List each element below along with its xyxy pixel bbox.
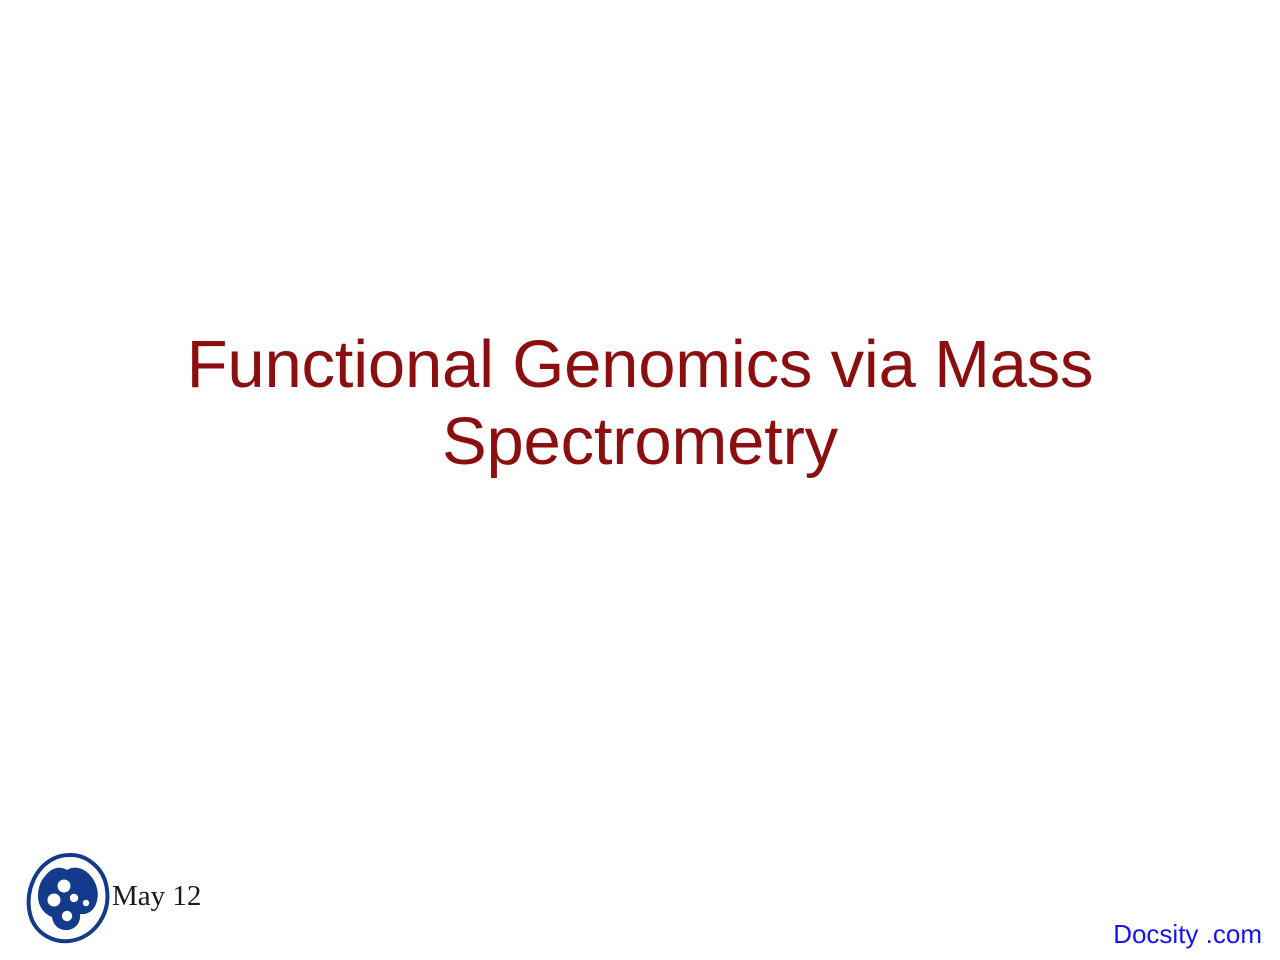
presentation-slide: Functional Genomics via Mass Spectrometr… xyxy=(0,0,1280,960)
slide-date: May 12 xyxy=(112,881,201,911)
cell-organism-logo-icon xyxy=(25,852,111,944)
docsity-watermark[interactable]: Docsity .com xyxy=(1113,919,1262,949)
slide-footer-left: May 12 xyxy=(20,848,340,953)
slide-title: Functional Genomics via Mass Spectrometr… xyxy=(120,326,1160,480)
slide-title-line-2: Spectrometry xyxy=(120,403,1160,480)
slide-title-line-1: Functional Genomics via Mass xyxy=(120,326,1160,403)
